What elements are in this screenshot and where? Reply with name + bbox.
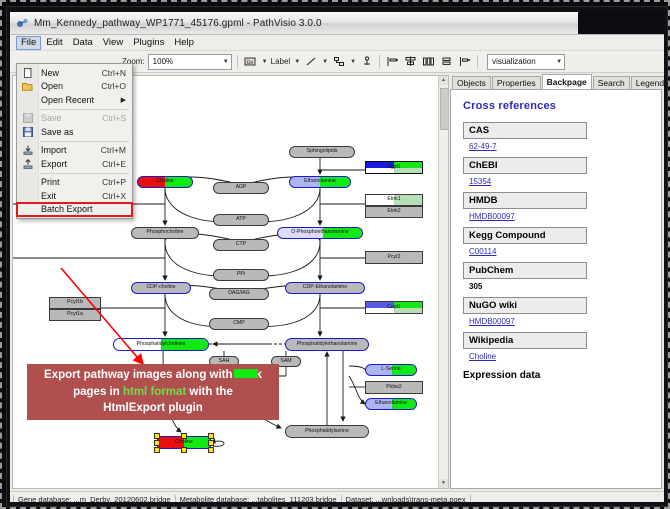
canvas-vertical-scrollbar[interactable]: ▲ ▼ [438,76,448,488]
zoom-value: 100% [153,57,173,66]
xref-kegg-compound: Kegg Compound C00114 [451,227,661,256]
side-panel-tabs: Objects Properties Backpage Search Legen… [450,75,662,90]
chevron-down-icon[interactable]: ▼ [350,59,356,65]
backpage-panel: Cross references CAS 62-49-7 ChEBI 15354… [450,89,662,489]
node-o-phosphoethanolamine[interactable]: O-Phosphoethanolamine [277,227,363,239]
selection-handle[interactable] [154,447,160,453]
selection-handle[interactable] [208,440,214,446]
node-ethanolamine[interactable]: Ethanolamine [289,176,351,188]
save-disk-icon [17,113,38,123]
menu-bar: File Edit Data View Plugins Help [10,35,664,51]
file-menu-item-save: Save Ctrl+S [17,112,132,126]
file-menu-item-batch-export[interactable]: Batch Export [17,203,132,217]
menu-plugins[interactable]: Plugins [128,36,169,50]
toolbar-separator [379,55,380,68]
file-menu-item-export[interactable]: Export Ctrl+E [17,157,132,171]
selection-handle[interactable] [181,447,187,453]
import-icon [17,145,38,155]
annotation-line3: HtmlExport plugin [103,402,203,414]
distribute-icon[interactable] [421,54,436,69]
file-menu-item-open-recent[interactable]: Open Recent ▶ [17,93,132,107]
selection-handle[interactable] [208,433,214,439]
xref-link[interactable]: HMDB00097 [463,209,661,221]
node-choline-top[interactable]: Choline [137,176,193,188]
xref-source-label: ChEBI [463,157,587,174]
annotation-line2-b: with the [186,386,233,398]
xref-source-label: CAS [463,122,587,139]
new-file-icon [17,68,38,78]
status-metabolite-database: Metabolite database: ...tabolites_111203… [176,495,342,503]
menu-separator [40,141,129,142]
node-cmp[interactable]: CMP [209,318,269,330]
window-controls-region [578,12,664,34]
chevron-down-icon[interactable]: ▼ [294,59,300,65]
menu-help[interactable]: Help [169,36,199,50]
status-gene-database: Gene database: ...m_Derby_20120602.bridg… [13,495,176,503]
gene-sgpl1[interactable]: Sgpl1 [365,161,423,174]
file-menu-label: Open Recent [38,95,121,105]
annotation-line2-a: pages in [73,386,123,398]
file-menu-shortcut: Ctrl+E [102,159,132,169]
datanode-tool-icon[interactable]: Gn [243,54,258,69]
file-menu-label: Export [38,159,102,169]
open-folder-icon [17,82,38,91]
file-menu-label: Print [38,177,102,187]
tab-properties[interactable]: Properties [492,76,541,90]
xref-hmdb: HMDB HMDB00097 [451,192,661,221]
xref-link[interactable]: HMDB00097 [463,314,661,326]
node-ctp[interactable]: CTP [213,239,269,251]
common-width-icon[interactable] [439,54,454,69]
label-tool-label: Label [271,57,291,66]
status-dataset: Dataset: ...wnloads\trans-meta.pgex [342,495,471,503]
node-l-serine[interactable]: L-Serine [365,364,417,376]
scroll-down-icon[interactable]: ▼ [439,479,448,488]
tab-legend[interactable]: Legend [631,76,664,90]
visualization-combobox[interactable]: visualization ▼ [487,54,565,70]
tab-objects[interactable]: Objects [452,76,491,90]
node-sphingolipids[interactable]: Sphingolipids [289,146,355,158]
chevron-down-icon[interactable]: ▼ [262,59,268,65]
file-menu-label: New [38,68,102,78]
xref-link[interactable]: 15354 [463,174,661,186]
gene-etnk2[interactable]: Etnk2 [365,206,423,218]
node-ethanolamine-2[interactable]: Ethanolamine [365,398,417,410]
node-dag-iag[interactable]: DAG/IAG [209,288,269,300]
xref-value: 305 [463,279,661,291]
node-phosphatidylethanolamine[interactable]: Phosphatidylethanolamine [285,338,369,351]
selection-handle[interactable] [154,433,160,439]
file-menu-item-save-as[interactable]: Save as [17,125,132,139]
xref-wikipedia: Wikipedia Choline [451,332,661,361]
file-menu-label: Open [38,81,101,91]
node-cdp-choline[interactable]: CDP-choline [131,282,191,294]
side-panel: Objects Properties Backpage Search Legen… [450,75,662,489]
node-atp[interactable]: ATP [213,214,269,226]
visualization-value: visualization [492,57,536,66]
xref-source-label: NuGO wiki [463,297,587,314]
save-as-disk-icon [17,127,38,137]
xref-link[interactable]: Choline [463,349,661,361]
file-menu-item-exit[interactable]: Exit Ctrl+X [17,189,132,203]
align-center-icon[interactable] [403,54,418,69]
gene-pldss2[interactable]: Pldss2 [365,381,423,394]
xref-nugo-wiki: NuGO wiki HMDB00097 [451,297,661,326]
tab-backpage[interactable]: Backpage [542,74,592,90]
expression-data-heading: Expression data [451,367,661,381]
gene-etnk1[interactable]: Etnk1 [365,194,423,206]
menu-file[interactable]: File [16,36,41,50]
status-bar: Gene database: ...m_Derby_20120602.bridg… [10,491,664,502]
cross-references-heading: Cross references [451,100,661,122]
file-menu-item-print[interactable]: Print Ctrl+P [17,176,132,190]
selection-handle[interactable] [208,447,214,453]
annotation-line1: Export pathway images along with back [44,369,262,381]
node-phosphatidylcholines[interactable]: Phosphatidylcholines [113,338,209,351]
menu-separator [40,173,129,174]
anchor-tool-icon[interactable] [359,54,374,69]
file-menu-shortcut: Ctrl+O [101,81,132,91]
node-adp[interactable]: ADP [213,182,269,194]
xref-pubchem: PubChem 305 [451,262,661,291]
selection-handle[interactable] [181,433,187,439]
align-left-icon[interactable] [385,54,400,69]
menu-view[interactable]: View [98,36,128,50]
menu-data[interactable]: Data [68,36,98,50]
line-tool-icon[interactable] [303,54,318,69]
gene-pcyt2[interactable]: Pcyt2 [365,251,423,264]
chevron-down-icon[interactable]: ▼ [322,59,328,65]
pathvisio-app-icon [16,17,29,30]
file-menu-dropdown[interactable]: New Ctrl+N Open Ctrl+O Open Recent ▶ [16,63,133,219]
file-menu-shortcut: Ctrl+M [101,145,132,155]
menu-separator [40,109,129,110]
export-icon [17,159,38,169]
file-menu-shortcut: Ctrl+S [102,113,132,123]
file-menu-shortcut: Ctrl+X [102,191,132,201]
chevron-down-icon: ▼ [556,59,562,65]
submenu-arrow-icon: ▶ [121,96,132,104]
annotation-line2-highlight: html format [123,386,186,398]
node-phosphocholine[interactable]: Phosphocholine [131,227,199,239]
file-menu-item-open[interactable]: Open Ctrl+O [17,80,132,94]
file-menu-label: Save [38,113,102,123]
window-title-bar: Mm_Kennedy_pathway_WP1771_45176.gpml - P… [10,12,664,35]
xref-source-label: Kegg Compound [463,227,587,244]
xref-cas: CAS 62-49-7 [451,122,661,151]
file-menu-label: Exit [38,191,102,201]
gene-cept1[interactable]: Cept1 [365,301,423,314]
scroll-up-icon[interactable]: ▲ [439,76,448,85]
file-menu-label: Batch Export [38,204,132,214]
node-cdp-ethanolamine[interactable]: CDP-Ethanolamine [285,282,365,294]
gene-pcyt1b[interactable]: Pcyt1b [49,297,101,309]
gene-pcyt1a[interactable]: Pcyt1a [49,309,101,321]
xref-source-label: Wikipedia [463,332,587,349]
node-phosphatidylserine[interactable]: Phosphatidylserine [285,425,369,438]
pathvisio-window: Mm_Kennedy_pathway_WP1771_45176.gpml - P… [10,12,664,502]
file-menu-item-new[interactable]: New Ctrl+N [17,66,132,80]
file-menu-shortcut: Ctrl+N [102,68,132,78]
file-menu-label: Save as [38,127,126,137]
selection-marquee: Mm_Kennedy_pathway_WP1771_45176.gpml - P… [0,0,670,509]
node-ppi[interactable]: PPi [213,269,269,281]
file-menu-item-import[interactable]: Import Ctrl+M [17,144,132,158]
svg-text:Gn: Gn [247,60,254,66]
xref-link[interactable]: C00114 [463,244,661,256]
xref-chebi: ChEBI 15354 [451,157,661,186]
xref-source-label: PubChem [463,262,587,279]
window-title: Mm_Kennedy_pathway_WP1771_45176.gpml - P… [34,18,322,29]
chevron-down-icon: ▼ [223,59,229,65]
file-menu-shortcut: Ctrl+P [102,177,132,187]
toolbar-separator [237,55,238,68]
zoom-combobox[interactable]: 100% ▼ [148,54,232,70]
tab-search[interactable]: Search [593,76,630,90]
xref-link[interactable]: 62-49-7 [463,139,661,151]
selection-handle[interactable] [154,440,160,446]
file-menu-label: Import [38,145,101,155]
scrollbar-thumb[interactable] [440,88,449,130]
xref-source-label: HMDB [463,192,587,209]
toolbar-separator [477,55,478,68]
stack-icon[interactable] [457,54,472,69]
menu-edit[interactable]: Edit [41,36,67,50]
interaction-tool-icon[interactable] [331,54,346,69]
